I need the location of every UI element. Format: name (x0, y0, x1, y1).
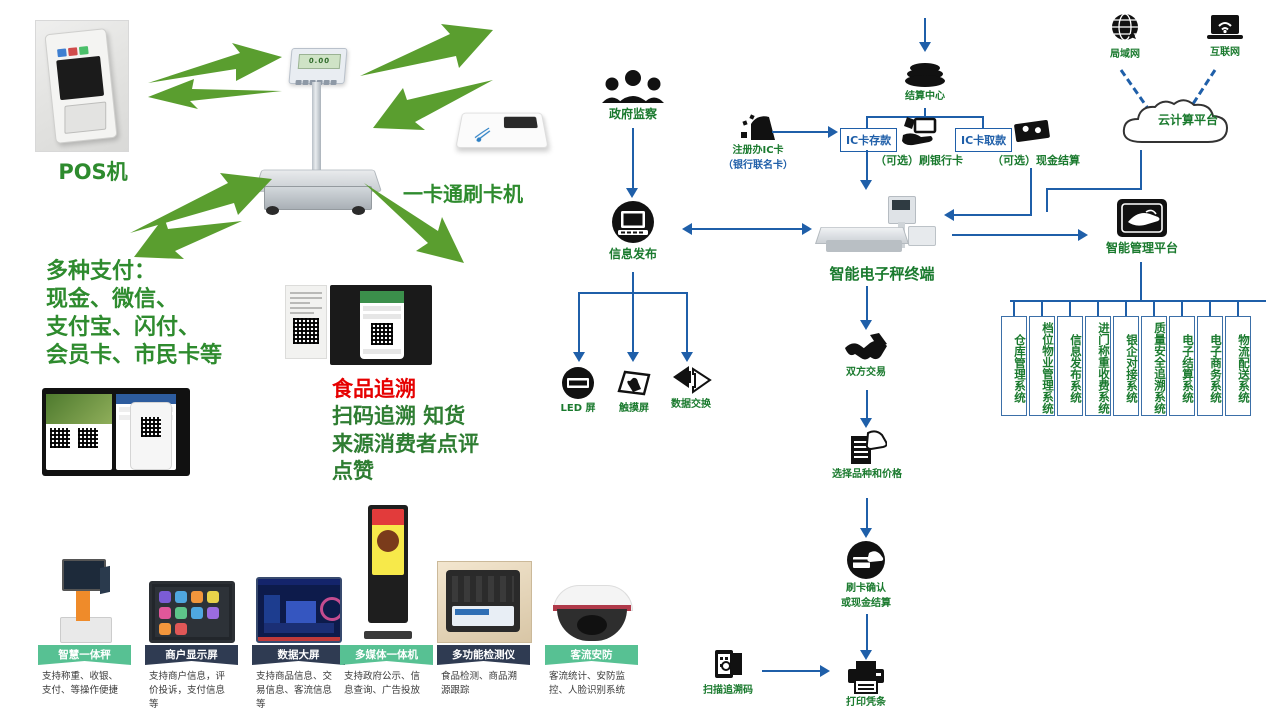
product-desc: 客流统计、安防监控、人脸识别系统 (545, 670, 638, 698)
arrowhead (627, 352, 639, 362)
product-tag: 商户显示屏 (145, 645, 238, 665)
arrowhead (828, 126, 838, 138)
payment-line: 会员卡、市民卡等 (46, 342, 316, 370)
phone-screen (360, 291, 404, 359)
product-desc: 支持商品信息、交易信息、客流信息等 (252, 670, 345, 711)
swipe-card-icon (846, 540, 886, 580)
connector (686, 292, 688, 354)
node-label: 信息发布 (592, 247, 674, 261)
connector (866, 498, 868, 530)
node-lan[interactable]: 局域网 (1090, 12, 1160, 61)
connector (1046, 188, 1048, 212)
pos-device-body (44, 28, 117, 144)
terminal-label: 智能电子秤终端 (792, 266, 972, 283)
touch-panel-icon (1116, 198, 1168, 238)
arrowhead (802, 223, 812, 235)
printer-icon (845, 660, 887, 694)
product-tag: 数据大屏 (252, 645, 345, 665)
coins-stack-icon (904, 62, 946, 88)
connector (762, 670, 824, 672)
product-card[interactable]: 数据大屏 支持商品信息、交易信息、客流信息等 (252, 645, 345, 711)
system-box[interactable]: 物流配送系统 (1225, 316, 1251, 416)
traceability-block: 食品追溯 扫码追溯 知货 来源消费者点评 点赞 (332, 376, 542, 485)
system-box[interactable]: 仓库管理系统 (1001, 316, 1027, 416)
arrowhead (573, 352, 585, 362)
connector (866, 286, 868, 322)
node-label: 触摸屏 (608, 403, 660, 415)
green-arrow-scale-to-traceability (360, 175, 470, 270)
people-icon (602, 70, 664, 104)
pos-keypad (56, 38, 97, 54)
node-print-receipt[interactable]: 打印凭条 (828, 660, 904, 709)
node-label: 刷卡确认 (828, 583, 904, 595)
payment-methods-block: 多种支付： 现金、微信、 支付宝、闪付、 会员卡、市民卡等 (46, 258, 316, 371)
node-settlement-center[interactable]: 结算中心 (890, 62, 960, 103)
connector (632, 128, 634, 190)
node-label: 结算中心 (890, 91, 960, 103)
connector (690, 228, 810, 230)
connector (1140, 262, 1142, 302)
node-label: 云计算平台 (1118, 114, 1258, 128)
connector (772, 131, 830, 133)
qr-phone-icon (711, 648, 745, 682)
product-desc: 支持政府公示、信息查询、广告投放 (340, 670, 433, 698)
monitor-icon (611, 200, 655, 244)
arrowhead (1078, 229, 1088, 241)
receipt-photo (285, 285, 327, 359)
node-internet[interactable]: 互联网 (1190, 12, 1260, 59)
green-arrow-scale-to-reader (355, 18, 500, 138)
connector (866, 390, 868, 420)
product-image-smart-scale-kiosk (38, 540, 131, 645)
node-touchscreen[interactable]: 触摸屏 (608, 366, 660, 415)
node-led-screen[interactable]: LED 屏 (552, 366, 604, 415)
node-info-publish[interactable]: 信息发布 (592, 200, 674, 261)
systems-bus-line (1010, 300, 1266, 302)
node-label: 打印凭条 (828, 697, 904, 709)
traceability-title: 食品追溯 (332, 376, 542, 403)
system-box[interactable]: 电子结算系统 (1169, 316, 1195, 416)
product-image-multimedia-kiosk (340, 505, 433, 645)
arrowhead (860, 650, 872, 660)
node-data-exchange[interactable]: 数据交换 (660, 366, 722, 411)
payment-line: 现金、微信、 (46, 286, 316, 314)
node-select-variety-price[interactable]: 选择品种和价格 (808, 430, 926, 481)
product-image-detector-case (437, 540, 530, 645)
product-desc: 支持商户信息，评价投诉，支付信息等 (145, 670, 238, 711)
node-label: 政府监察 (588, 107, 678, 121)
arrowhead (860, 180, 872, 190)
node-label: 扫描追溯码 (690, 685, 766, 697)
arrowhead (626, 188, 638, 198)
product-image-merchant-display (145, 540, 238, 645)
arrowhead (860, 320, 872, 330)
scale-post (312, 82, 321, 170)
arrowhead (860, 418, 872, 428)
node-label: 局域网 (1090, 49, 1160, 61)
connector (632, 292, 634, 354)
connector (578, 292, 580, 354)
product-tag: 智慧一体秤 (38, 645, 131, 665)
node-sublabel: （银行联名卡） (712, 160, 804, 172)
product-desc: 食品检测、商品溯源跟踪 (437, 670, 530, 698)
connector (866, 150, 868, 182)
green-arrow-pos-to-scale (140, 35, 290, 110)
pos-screen (56, 56, 104, 100)
scale-buttons (296, 70, 339, 77)
node-label: 注册办IC卡 (712, 145, 804, 157)
touchscreen-icon (616, 366, 652, 400)
smart-scale-terminal-image (812, 196, 942, 262)
node-label: LED 屏 (552, 403, 604, 415)
ic-withdraw-box[interactable]: IC卡取款 (955, 128, 1012, 152)
product-image-data-dashboard (252, 540, 345, 645)
node-swipe-or-cash[interactable]: 刷卡确认 或现金结算 (828, 540, 904, 610)
system-box[interactable]: 电子商务系统 (1197, 316, 1223, 416)
connector (1030, 168, 1032, 216)
connector (866, 614, 868, 652)
connector (1046, 188, 1142, 190)
payment-line: 多种支付： (46, 258, 316, 286)
product-tag: 多媒体一体机 (340, 645, 433, 665)
mobile-payment-photo (330, 285, 432, 365)
traceability-line: 来源消费者点评 (332, 431, 542, 458)
product-desc: 支持称重、收银、支付、等操作便捷 (38, 670, 131, 698)
system-box[interactable]: 档位物业管理系统 (1029, 316, 1055, 416)
scale-indicator-head: 0.00 (288, 48, 347, 84)
green-arrow-scale-to-payments (120, 155, 280, 265)
connector (952, 234, 1082, 236)
receipt-qr-code (293, 318, 319, 344)
tablet-left-screen (46, 394, 112, 470)
card-reader-screen (504, 117, 538, 128)
system-box[interactable]: 银企对接系统 (1113, 316, 1139, 416)
system-box[interactable]: 进门称重收费系统 (1085, 316, 1111, 416)
node-label: 互联网 (1190, 47, 1260, 59)
traceability-line: 点赞 (332, 458, 542, 485)
node-register-card[interactable]: 注册办IC卡 （银行联名卡） (712, 112, 804, 172)
system-box[interactable]: 质量安全追溯系统 (1141, 316, 1167, 416)
optional-bankcard-label: （可选）刷银行卡 (875, 152, 963, 168)
product-card[interactable]: 多媒体一体机 支持政府公示、信息查询、广告投放 (340, 645, 433, 698)
arrowhead (860, 528, 872, 538)
product-card[interactable]: 商户显示屏 支持商户信息，评价投诉，支付信息等 (145, 645, 238, 711)
phone-qr-code (371, 323, 393, 345)
connector (924, 18, 926, 44)
laptop-wifi-icon (1206, 12, 1244, 44)
data-exchange-icon (669, 366, 713, 396)
tablet-traceability-photo (42, 388, 190, 476)
product-card[interactable]: 客流安防 客流统计、安防监控、人脸识别系统 (545, 645, 638, 698)
arrowhead (820, 665, 830, 677)
led-screen-icon (561, 366, 595, 400)
product-card[interactable]: 智慧一体秤 支持称重、收银、支付、等操作便捷 (38, 645, 131, 698)
product-tag: 客流安防 (545, 645, 638, 665)
pos-machine-photo (35, 20, 129, 152)
node-management-platform[interactable]: 智能管理平台 (1094, 198, 1190, 255)
arrowhead (682, 223, 692, 235)
node-sublabel: 或现金结算 (828, 598, 904, 610)
ic-deposit-box[interactable]: IC卡存款 (840, 128, 897, 152)
hand-card-icon (901, 113, 939, 147)
optional-cash-label: （可选）现金结算 (992, 152, 1080, 168)
node-mutual-transaction[interactable]: 双方交易 (828, 332, 904, 379)
handheld-phone (130, 402, 172, 470)
product-tag: 多功能检测仪 (437, 645, 530, 665)
node-label: 数据交换 (660, 399, 722, 411)
node-label: 智能管理平台 (1094, 241, 1190, 255)
connector (1140, 150, 1142, 190)
arrowhead (681, 352, 693, 362)
hand-list-icon (847, 430, 887, 466)
payment-line: 支付宝、闪付、 (46, 314, 316, 342)
globe-icon (1108, 12, 1142, 46)
system-box[interactable]: 信息发布系统 (1057, 316, 1083, 416)
node-government[interactable]: 政府监察 (588, 70, 678, 121)
connector (952, 214, 1032, 216)
banknote-icon (1013, 116, 1053, 144)
node-label: 选择品种和价格 (808, 469, 926, 481)
node-label: 双方交易 (828, 367, 904, 379)
traceability-line: 扫码追溯 知货 (332, 403, 542, 430)
product-image-dome-camera (545, 540, 638, 645)
node-cloud-platform[interactable]: 云计算平台 (1118, 98, 1258, 150)
card-issuer-icon (737, 112, 779, 142)
arrowhead (944, 209, 954, 221)
scale-lcd-display: 0.00 (298, 54, 341, 69)
handshake-icon (843, 332, 889, 364)
connector (632, 272, 634, 294)
node-scan-trace-code[interactable]: 扫描追溯码 (690, 648, 766, 697)
pos-scan-window (64, 101, 106, 134)
product-card[interactable]: 多功能检测仪 食品检测、商品溯源跟踪 (437, 645, 530, 698)
